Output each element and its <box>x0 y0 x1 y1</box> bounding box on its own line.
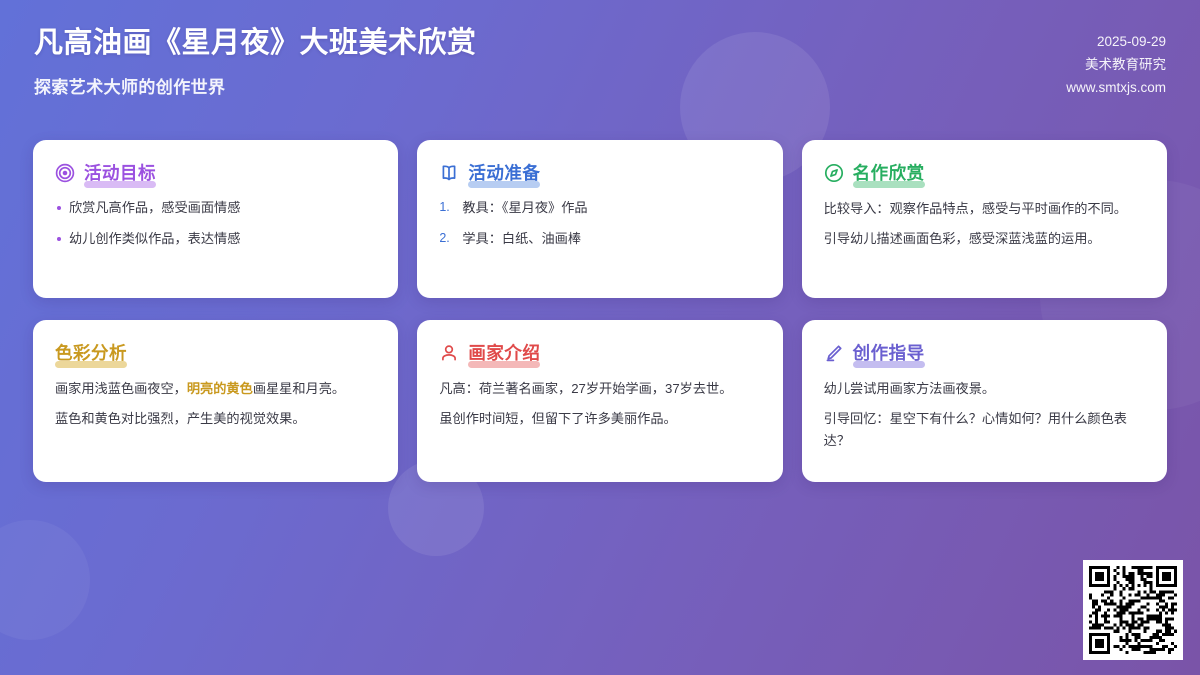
highlighted-text: 明亮的黄色 <box>187 381 253 396</box>
list-item: 欣赏凡高作品，感受画面情感 <box>55 198 376 218</box>
card-title: 色彩分析 <box>55 343 127 363</box>
card-body: 幼儿尝试用画家方法画夜景。引导回忆：星空下有什么？心情如何？用什么颜色表达？ <box>824 378 1145 451</box>
header-title-block: 凡高油画《星月夜》大班美术欣赏 探索艺术大师的创作世界 <box>34 0 477 98</box>
card-color-analysis: 色彩分析画家用浅蓝色画夜空，明亮的黄色画星星和月亮。蓝色和黄色对比强烈，产生美的… <box>33 320 398 482</box>
card-body: 画家用浅蓝色画夜空，明亮的黄色画星星和月亮。蓝色和黄色对比强烈，产生美的视觉效果… <box>55 378 376 430</box>
list-item-label: 学具：白纸、油画棒 <box>462 229 581 249</box>
paragraph: 画家用浅蓝色画夜空，明亮的黄色画星星和月亮。 <box>55 378 376 399</box>
paragraph-text: 蓝色和黄色对比强烈，产生美的视觉效果。 <box>55 411 306 426</box>
card-title-wrap: 活动目标 <box>84 160 156 185</box>
card-header: 色彩分析 <box>55 340 376 365</box>
paragraph: 凡高：荷兰著名画家，27岁开始学画，37岁去世。 <box>439 378 760 399</box>
decorative-circle-4 <box>0 520 90 640</box>
header-website: www.smtxjs.com <box>1066 76 1166 99</box>
list-item: 2.学具：白纸、油画棒 <box>439 229 760 249</box>
card-title: 画家介绍 <box>468 343 540 363</box>
card-body: 凡高：荷兰著名画家，27岁开始学画，37岁去世。虽创作时间短，但留下了许多美丽作… <box>439 378 760 430</box>
header-meta-block: 2025-09-29 美术教育研究 www.smtxjs.com <box>1066 0 1166 100</box>
card-activity-goals: 活动目标欣赏凡高作品，感受画面情感幼儿创作类似作品，表达情感 <box>33 140 398 298</box>
card-title: 活动准备 <box>468 163 540 183</box>
paragraph: 幼儿尝试用画家方法画夜景。 <box>824 378 1145 399</box>
list-item: 1.教具：《星月夜》作品 <box>439 198 760 218</box>
target-icon <box>55 163 75 183</box>
card-body: 比较导入：观察作品特点，感受与平时画作的不同。引导幼儿描述画面色彩，感受深蓝浅蓝… <box>824 198 1145 250</box>
paragraph-text: 画星星和月亮。 <box>253 381 345 396</box>
bullet-dot-icon <box>57 206 61 210</box>
content-card-grid: 活动目标欣赏凡高作品，感受画面情感幼儿创作类似作品，表达情感活动准备1.教具：《… <box>33 140 1167 482</box>
card-title-wrap: 色彩分析 <box>55 340 127 365</box>
card-title: 名作欣赏 <box>853 163 925 183</box>
list-item-label: 欣赏凡高作品，感受画面情感 <box>69 198 240 218</box>
card-title: 创作指导 <box>853 343 925 363</box>
card-body: 1.教具：《星月夜》作品2.学具：白纸、油画棒 <box>439 198 760 249</box>
card-title: 活动目标 <box>84 163 156 183</box>
page-subtitle: 探索艺术大师的创作世界 <box>34 73 477 98</box>
slide-root: 凡高油画《星月夜》大班美术欣赏 探索艺术大师的创作世界 2025-09-29 美… <box>0 0 1200 675</box>
paragraph: 引导回忆：星空下有什么？心情如何？用什么颜色表达？ <box>824 408 1145 451</box>
compass-icon <box>824 163 844 183</box>
paragraph: 引导幼儿描述画面色彩，感受深蓝浅蓝的运用。 <box>824 228 1145 249</box>
card-header: 活动目标 <box>55 160 376 185</box>
header-date: 2025-09-29 <box>1066 30 1166 53</box>
numbered-list: 1.教具：《星月夜》作品2.学具：白纸、油画棒 <box>439 198 760 249</box>
paragraph: 蓝色和黄色对比强烈，产生美的视觉效果。 <box>55 408 376 429</box>
qr-code[interactable] <box>1083 560 1183 660</box>
bullet-list: 欣赏凡高作品，感受画面情感幼儿创作类似作品，表达情感 <box>55 198 376 249</box>
card-title-wrap: 画家介绍 <box>468 340 540 365</box>
card-title-wrap: 名作欣赏 <box>853 160 925 185</box>
card-body: 欣赏凡高作品，感受画面情感幼儿创作类似作品，表达情感 <box>55 198 376 249</box>
card-header: 创作指导 <box>824 340 1145 365</box>
card-header: 画家介绍 <box>439 340 760 365</box>
list-item-label: 教具：《星月夜》作品 <box>462 198 587 218</box>
card-title-wrap: 创作指导 <box>853 340 925 365</box>
list-item-label: 幼儿创作类似作品，表达情感 <box>69 229 240 249</box>
card-activity-preparation: 活动准备1.教具：《星月夜》作品2.学具：白纸、油画棒 <box>417 140 782 298</box>
header-organization: 美术教育研究 <box>1066 53 1166 76</box>
list-item-number: 2. <box>439 229 454 248</box>
paragraph: 比较导入：观察作品特点，感受与平时画作的不同。 <box>824 198 1145 219</box>
card-header: 活动准备 <box>439 160 760 185</box>
pencil-icon <box>824 343 844 363</box>
book-icon <box>439 163 459 183</box>
paragraph: 虽创作时间短，但留下了许多美丽作品。 <box>439 408 760 429</box>
slide-header: 凡高油画《星月夜》大班美术欣赏 探索艺术大师的创作世界 2025-09-29 美… <box>0 0 1200 128</box>
card-title-wrap: 活动准备 <box>468 160 540 185</box>
paragraph-text: 画家用浅蓝色画夜空， <box>55 381 187 396</box>
list-item: 幼儿创作类似作品，表达情感 <box>55 229 376 249</box>
list-item-number: 1. <box>439 198 454 217</box>
qr-code-image <box>1089 566 1177 654</box>
page-title: 凡高油画《星月夜》大班美术欣赏 <box>34 25 477 62</box>
bullet-dot-icon <box>57 237 61 241</box>
person-icon <box>439 343 459 363</box>
card-creation-guidance: 创作指导幼儿尝试用画家方法画夜景。引导回忆：星空下有什么？心情如何？用什么颜色表… <box>802 320 1167 482</box>
card-header: 名作欣赏 <box>824 160 1145 185</box>
card-painter-introduction: 画家介绍凡高：荷兰著名画家，27岁开始学画，37岁去世。虽创作时间短，但留下了许… <box>417 320 782 482</box>
card-masterpiece-appreciation: 名作欣赏比较导入：观察作品特点，感受与平时画作的不同。引导幼儿描述画面色彩，感受… <box>802 140 1167 298</box>
